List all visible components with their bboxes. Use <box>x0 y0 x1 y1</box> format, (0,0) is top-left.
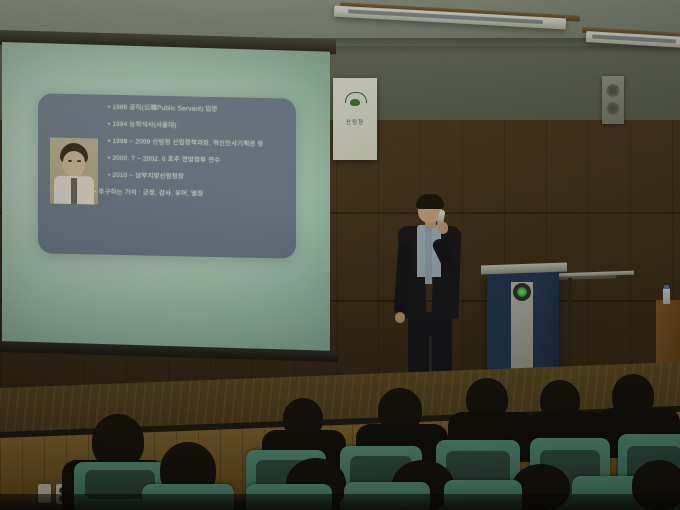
speaker-driver <box>607 84 620 97</box>
water-bottle-cap <box>664 285 669 289</box>
forest-service-emblem <box>344 92 366 108</box>
podium-support-post <box>568 278 572 374</box>
slide-bullet-list: 1986 공직(公職Public Servant) 입문 1994 농학석사(서… <box>108 105 288 210</box>
slide-bullet: 1986 공직(公職Public Servant) 입문 <box>108 105 288 115</box>
presenter-hand-left <box>395 312 405 323</box>
water-bottle <box>663 288 670 304</box>
slide-bullet: 2010 ~ 남부지방산림청장 <box>108 172 288 182</box>
lecture-hall-photo: 산림청 1986 공직(公職Public Servant) 입문 1994 농학… <box>0 0 680 510</box>
slide-bullet: 추구하는 가치 : 긍정, 감사, 유머, 열정 <box>94 189 288 199</box>
portrait-eye <box>77 160 81 162</box>
emblem-leaf <box>350 99 360 106</box>
slide-bullet: 1994 농학석사(서울대) <box>108 122 288 132</box>
foreground-shadow <box>0 494 680 510</box>
portrait-eye <box>68 160 72 162</box>
speaker-portrait-photo <box>50 138 98 205</box>
presenter-hair <box>416 194 444 209</box>
presenter-tie <box>425 228 432 284</box>
slide-bullet: 1998 ~ 2009 산림청 산림정책과장, 혁신인사기획관 등 <box>108 139 288 149</box>
speaker-driver <box>607 102 620 115</box>
banner-text: 산림청 <box>333 118 377 126</box>
portrait-tie <box>71 178 77 204</box>
portrait-face <box>63 151 85 176</box>
wall-mounted-speaker <box>602 76 624 124</box>
presenter-hand-right <box>438 222 448 234</box>
slide-bullet: 2000. 7 ~ 2002. 6 호주 연방정부 연수 <box>108 155 288 165</box>
seated-audience <box>0 368 680 510</box>
wall-banner: 산림청 <box>333 78 377 160</box>
speaker-profile-panel: 1986 공직(公職Public Servant) 입문 1994 농학석사(서… <box>38 93 296 258</box>
green-circle-logo-icon <box>513 283 531 301</box>
light-tube <box>592 34 676 43</box>
